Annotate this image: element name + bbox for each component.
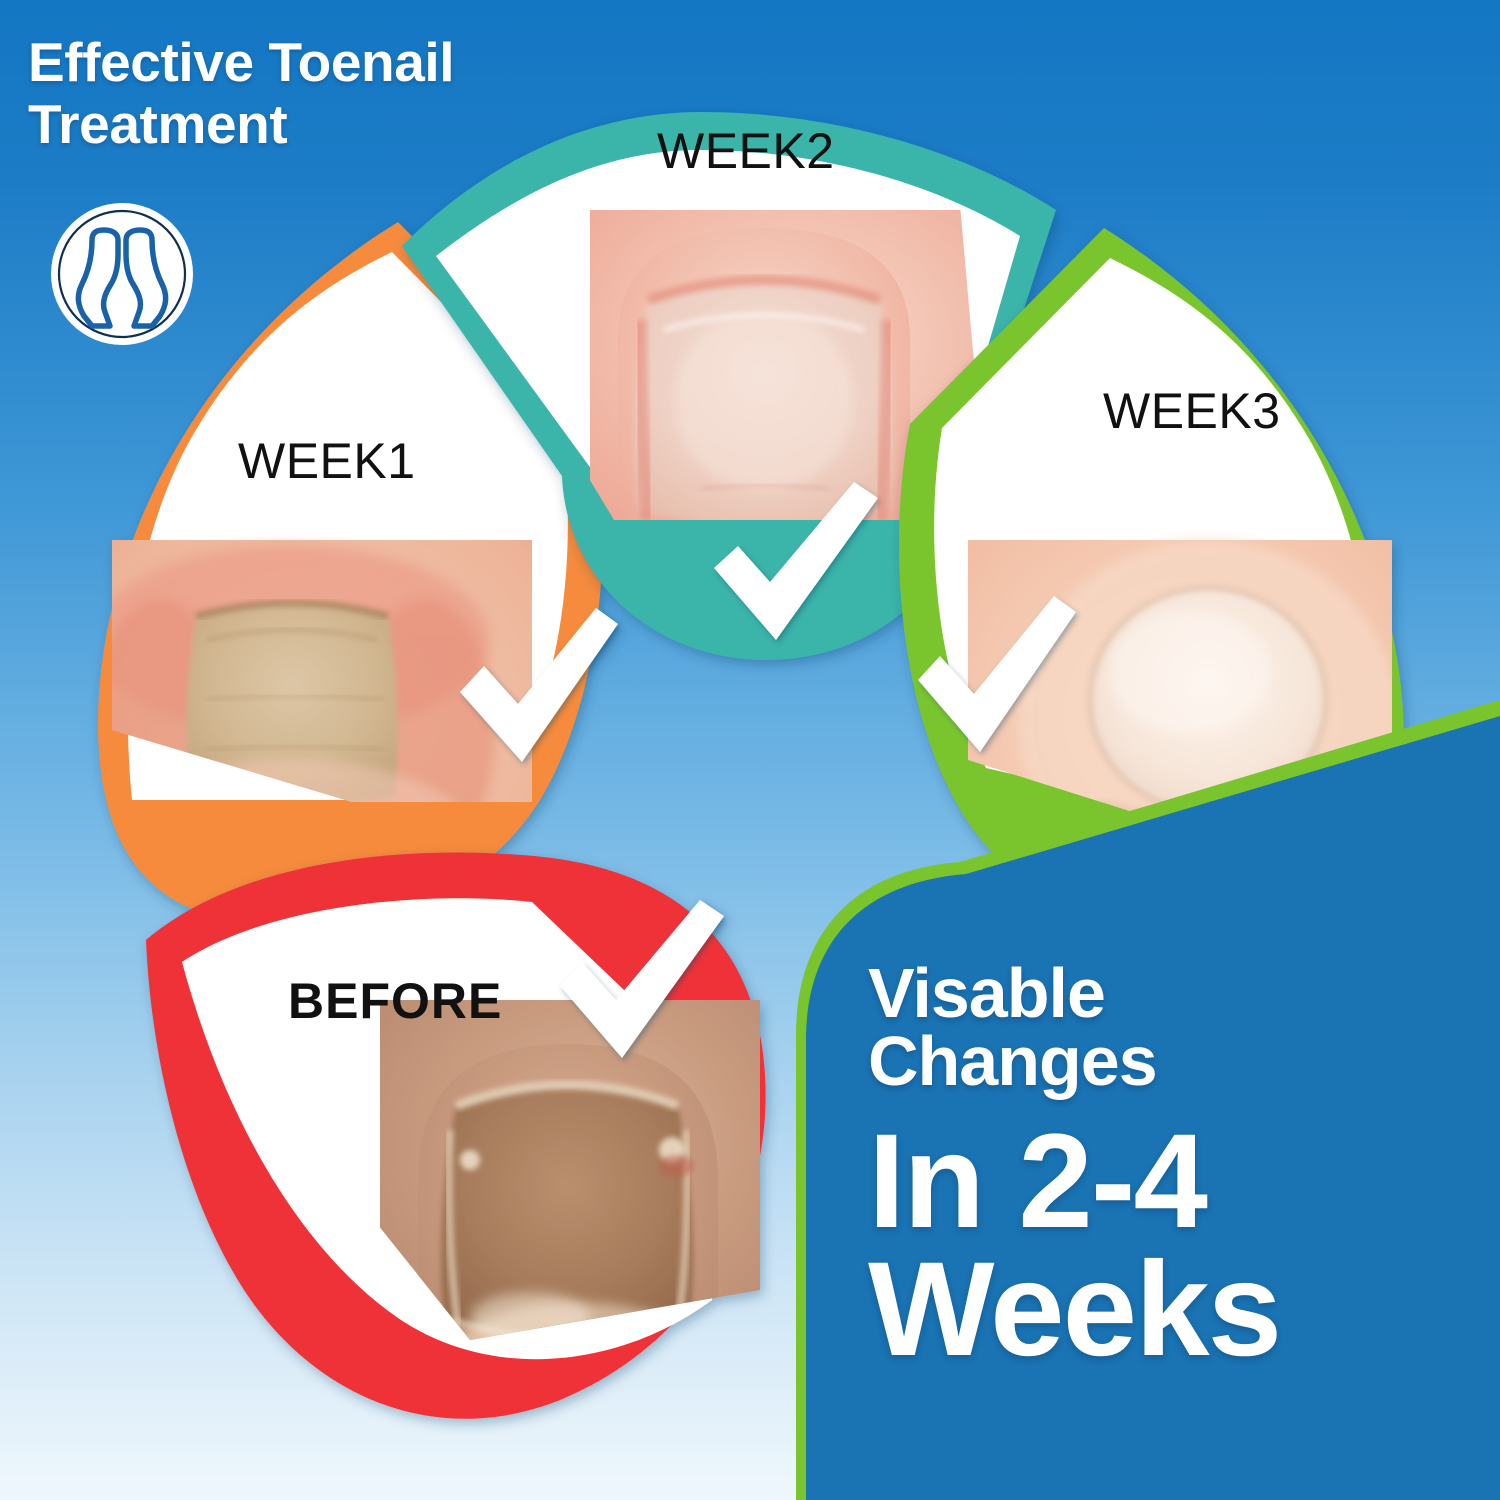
petal-label-before: BEFORE (288, 972, 502, 1030)
promo-panel[interactable] (796, 700, 1500, 1500)
petal-diagram (0, 0, 1500, 1500)
petal-label-week1: WEEK1 (238, 432, 416, 490)
petal-label-week3: WEEK3 (1103, 382, 1281, 440)
caring-hands-icon (48, 200, 196, 348)
infographic-canvas: Effective Toenail Treatment WEEK1 WEEK2 … (0, 0, 1500, 1500)
petal-before[interactable] (146, 852, 800, 1418)
promo-panel-body (806, 716, 1500, 1500)
petal-label-week2: WEEK2 (657, 122, 835, 180)
